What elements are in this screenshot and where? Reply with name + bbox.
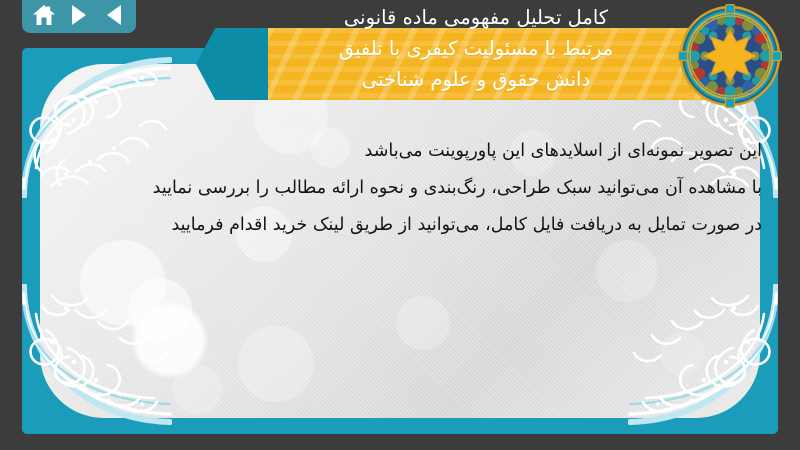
slide-body-text: این تصویر نمونه‌ای از اسلایدهای این پاور…	[72, 133, 762, 244]
arabesque-corner-ornament-bottom-left	[22, 284, 172, 434]
slide-navigation-bar[interactable]	[22, 0, 136, 33]
body-line-1: این تصویر نمونه‌ای از اسلایدهای این پاور…	[72, 133, 762, 170]
arabesque-corner-ornament-bottom-right	[628, 284, 778, 434]
prev-slide-button[interactable]	[101, 2, 127, 28]
persian-medallion-ornament	[678, 4, 782, 108]
medallion-star-center	[704, 30, 756, 82]
home-button[interactable]	[31, 2, 57, 28]
bokeh-circle	[172, 364, 222, 414]
body-line-2: با مشاهده آن می‌توانید سبک طراحی، رنگ‌بن…	[72, 170, 762, 207]
presentation-slide: این تصویر نمونه‌ای از اسلایدهای این پاور…	[0, 0, 800, 450]
triangle-right-icon	[72, 5, 86, 25]
next-slide-button[interactable]	[66, 2, 92, 28]
bokeh-circle	[396, 296, 450, 350]
title-banner: کامل تحلیل مفهومی ماده قانونی مرتبط با م…	[196, 28, 756, 100]
home-icon	[32, 4, 56, 26]
bokeh-circle	[238, 326, 314, 402]
body-line-3: در صورت تمایل به دریافت فایل کامل، می‌تو…	[72, 207, 762, 244]
banner-arrow-tail	[196, 28, 270, 100]
triangle-left-icon	[107, 5, 121, 25]
